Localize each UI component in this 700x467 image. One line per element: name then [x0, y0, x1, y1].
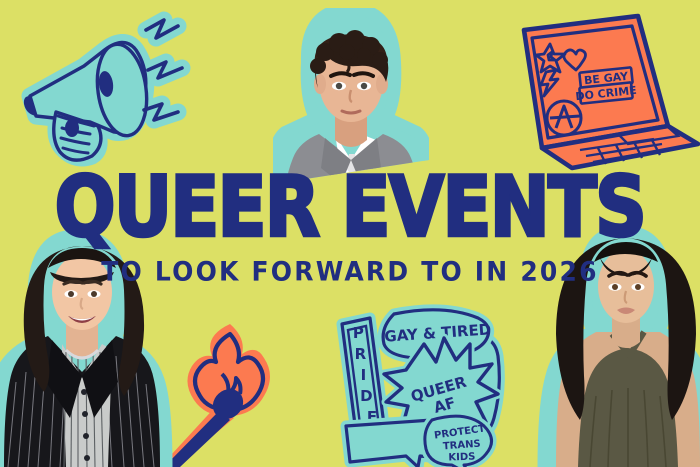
match-stick	[164, 410, 230, 467]
be-gay-do-crime-sticker: BE GAY DO CRIME	[575, 67, 637, 103]
laptop-illustration: BE GAY DO CRIME	[498, 8, 700, 168]
portrait-bottom-left	[2, 232, 162, 467]
poster-canvas: BE GAY DO CRIME	[0, 0, 700, 467]
burning-match-illustration	[160, 318, 304, 467]
face	[52, 254, 112, 330]
protest-signs-illustration: P R I D E GAY & TIRED	[336, 308, 526, 467]
megaphone-illustration	[6, 4, 202, 168]
portrait-top-center	[281, 8, 421, 190]
portrait-bottom-right	[556, 228, 700, 467]
protect-trans-kids-line3: KIDS	[448, 452, 475, 464]
protect-trans-kids-sign: PROTECT TRANS KIDS	[425, 416, 492, 467]
